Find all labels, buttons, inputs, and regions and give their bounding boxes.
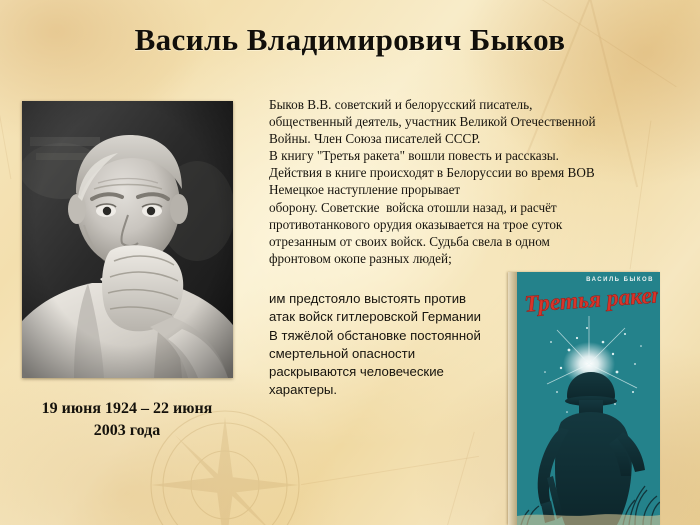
life-dates-line-2: 2003 года [14,420,240,442]
bio-line: им предстояло выстоять против [269,290,519,308]
page-title: Василь Владимирович Быков [0,22,700,58]
bio-line: В книгу "Третья ракета" вошли повесть и … [269,147,677,164]
book-cover: ВАСИЛЬ БЫКОВ Третья ракета [508,272,660,525]
bio-line: Быков В.В. советский и белорусский писат… [269,96,677,113]
slide-canvas: E SE Василь Владимирович Быков [0,0,700,525]
book-spine-edge [508,272,517,525]
book-cover-front: ВАСИЛЬ БЫКОВ Третья ракета [517,272,660,525]
svg-text:Третья ракета: Третья ракета [524,286,658,318]
bio-line: оборону. Советские войска отошли назад, … [269,199,677,216]
bio-line: фронтовом окопе разных людей; [269,250,677,267]
bio-line: общественный деятель, участник Великой О… [269,113,677,130]
bio-line: Действия в книге происходят в Белоруссии… [269,164,677,181]
biography-paragraph: Быков В.В. советский и белорусский писат… [269,96,677,267]
bio-line: атак войск гитлеровской Германии [269,308,519,326]
bio-line: В тяжёлой обстановке постоянной [269,327,519,345]
life-dates: 19 июня 1924 – 22 июня 2003 года [14,398,240,441]
bio-line: смертельной опасности [269,345,519,363]
book-title-label: Третья ракета [521,286,658,320]
bio-line: отрезанным от своих войск. Судьба свела … [269,233,677,250]
bio-line: Немецкое наступление прорывает [269,181,677,198]
biography-paragraph-continued: им предстояло выстоять против атак войск… [269,290,519,400]
bio-line: раскрываются человеческие [269,363,519,381]
book-author-label: ВАСИЛЬ БЫКОВ [517,277,654,283]
life-dates-line-1: 19 июня 1924 – 22 июня [14,398,240,420]
bio-line: противотанкового орудия оказывается на т… [269,216,677,233]
portrait-photo [22,101,233,378]
bio-line: характеры. [269,381,519,399]
bio-line: Войны. Член Союза писателей СССР. [269,130,677,147]
